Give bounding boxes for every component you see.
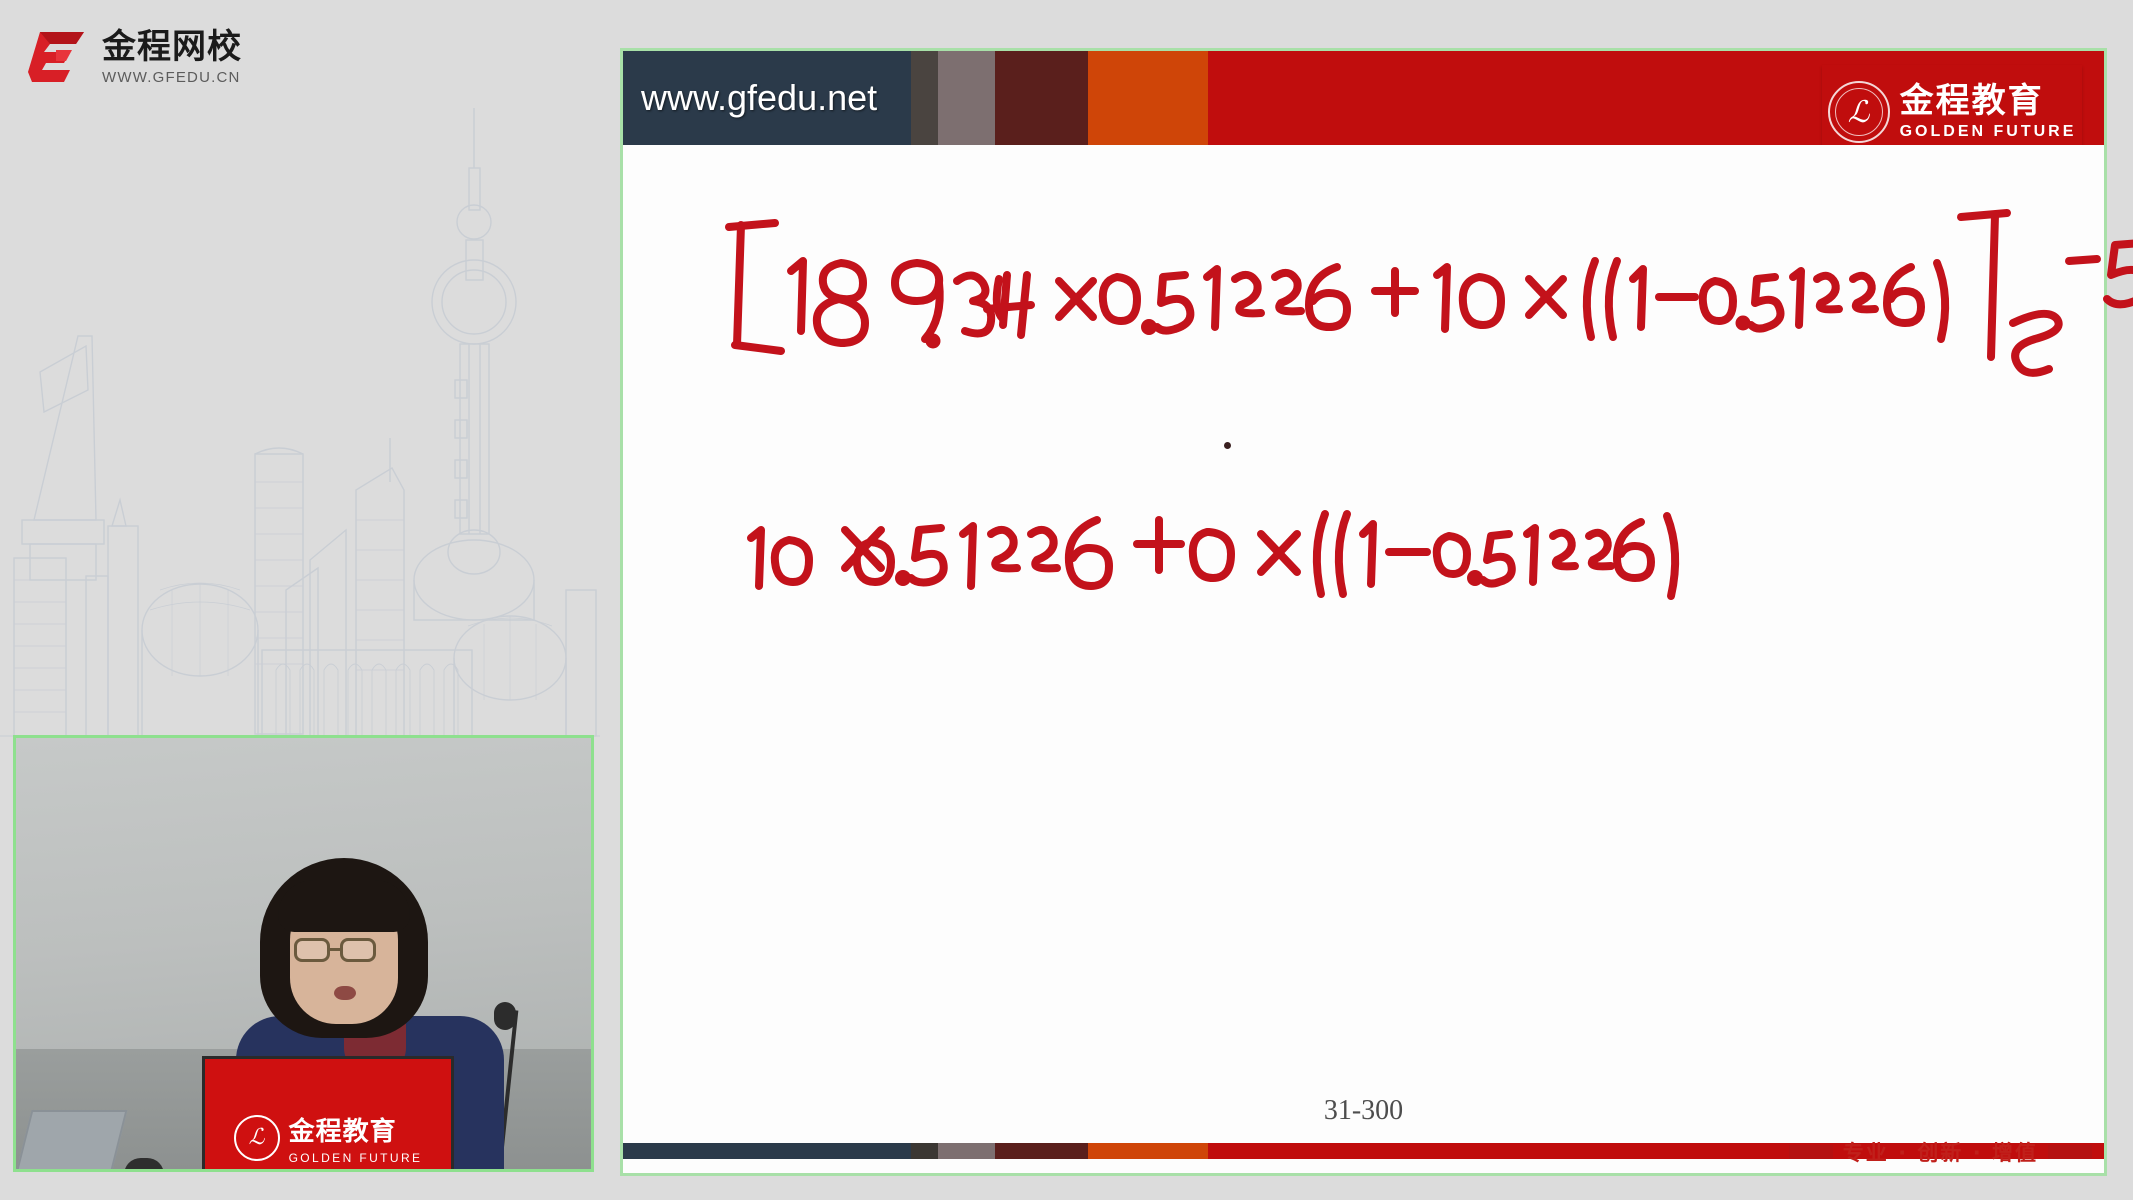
page-number: 31-300 (623, 1095, 2104, 1127)
seal-monogram: ℒ (1848, 95, 1870, 130)
webcam-tablet (13, 1110, 127, 1172)
instructor-mouth (334, 986, 356, 1000)
eyeglasses-left-lens-icon (294, 938, 330, 962)
laptop-lid-logo: ℒ 金程教育 GOLDEN FUTURE (202, 1056, 454, 1172)
golden-future-seal-icon: ℒ (234, 1115, 280, 1161)
header-band-charcoal (911, 51, 938, 145)
footer-band-maroon (995, 1143, 1088, 1159)
eyeglasses-right-lens-icon (340, 938, 376, 962)
equation-line-1-exponent (2005, 227, 2133, 377)
slogan-text: 专业 · 创新 · 增值 (1843, 1137, 2038, 1167)
instructor-fringe (278, 880, 410, 932)
slogan-right-bar-icon (2048, 1145, 2092, 1159)
equation-line-2 (741, 490, 1481, 610)
gfedu-g-mark-icon (26, 28, 88, 86)
instructor-webcam-feed[interactable]: ℒ 金程教育 GOLDEN FUTURE (13, 735, 594, 1172)
slide-footer: 31-300 专业 · 创新 · 增值 (623, 1095, 2104, 1173)
footer-slogan: 专业 · 创新 · 增值 (1789, 1137, 2092, 1167)
equation-line-1 (711, 205, 1711, 375)
brand-name-cn: 金程网校 (102, 30, 242, 66)
slogan-left-bar-icon (1789, 1145, 1833, 1159)
presentation-slide[interactable]: www.gfedu.net ℒ 金程教育 GOLDEN FUTURE (620, 48, 2107, 1176)
header-band-orange (1088, 51, 1208, 145)
golden-future-seal-icon: ℒ (1828, 81, 1890, 143)
pen-cursor-dot (1224, 442, 1231, 449)
laptop-logo-cn: 金程教育 (289, 1111, 423, 1148)
header-logo-en: GOLDEN FUTURE (1900, 123, 2077, 141)
footer-band-mauve (938, 1143, 995, 1159)
laptop-logo-en: GOLDEN FUTURE (289, 1151, 423, 1165)
slide-header: www.gfedu.net ℒ 金程教育 GOLDEN FUTURE (623, 51, 2104, 145)
footer-band-navy (623, 1143, 911, 1159)
slide-canvas[interactable] (623, 145, 2104, 1095)
screen-root: 金程网校 WWW.GFEDU.CN (0, 0, 2133, 1200)
header-logo-cn: 金程教育 (1900, 83, 2077, 120)
footer-band-charcoal (911, 1143, 938, 1159)
brand-url: WWW.GFEDU.CN (102, 69, 242, 86)
footer-band-orange (1088, 1143, 1208, 1159)
brand-logo: 金程网校 WWW.GFEDU.CN (26, 28, 242, 86)
header-band-maroon (995, 51, 1088, 145)
header-band-mauve (938, 51, 995, 145)
slide-url-label: www.gfedu.net (641, 51, 877, 145)
eyeglasses-bridge-icon (330, 948, 340, 951)
shanghai-skyline-watermark (0, 90, 600, 740)
